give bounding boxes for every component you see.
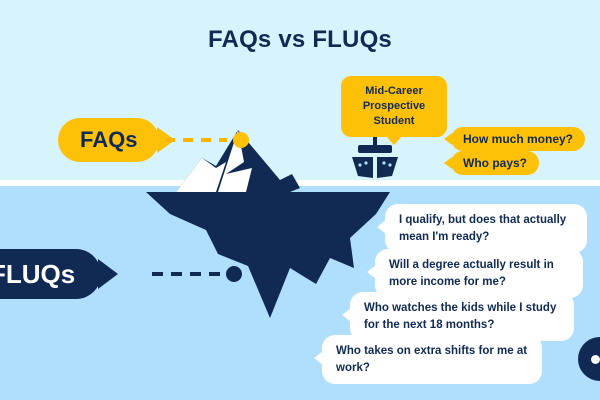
ship-deck <box>358 145 392 153</box>
fluq-bubble-tip <box>377 220 386 234</box>
fluqs-label-text: FLUQs <box>0 249 101 299</box>
faqs-connector-dot <box>233 132 249 148</box>
faq-bubble[interactable]: How much money? <box>451 127 585 151</box>
fluqs-connector-line <box>152 272 224 276</box>
faq-bubble-tip <box>444 157 452 169</box>
fluq-bubble[interactable]: Who takes on extra shifts for me at work… <box>322 335 542 384</box>
persona-callout: Mid-Career Prospective Student <box>341 76 447 137</box>
fluq-bubble-text: Who watches the kids while I study for t… <box>364 302 556 331</box>
fluq-bubble[interactable]: Will a degree actually result in more in… <box>375 249 583 298</box>
fluq-bubble[interactable]: I qualify, but does that actually mean I… <box>385 204 587 253</box>
corner-badge-glyph <box>591 355 600 364</box>
persona-line-2: Prospective <box>347 99 441 114</box>
fluq-bubble-text: Will a degree actually result in more in… <box>389 259 554 288</box>
ship-porthole <box>388 163 391 166</box>
faq-bubble[interactable]: Who pays? <box>451 151 539 175</box>
persona-line-1: Mid-Career <box>347 84 441 99</box>
fluq-bubble-text: Who takes on extra shifts for me at work… <box>336 345 527 374</box>
ship-hull-left <box>352 157 373 178</box>
faqs-label-text: FAQs <box>58 118 159 162</box>
fluq-bubble-tip <box>342 308 351 322</box>
fluq-bubble-tip <box>314 351 323 365</box>
faqs-label[interactable]: FAQs <box>58 118 175 162</box>
ship-porthole <box>382 161 385 164</box>
persona-line-3: Student <box>347 114 441 129</box>
faq-bubble-text: How much money? <box>463 132 573 146</box>
faq-bubble-text: Who pays? <box>463 156 527 170</box>
fluqs-label[interactable]: FLUQs <box>0 249 118 299</box>
persona-callout-tail <box>386 136 402 145</box>
fluq-bubble-tip <box>367 265 376 279</box>
fluqs-label-tail <box>98 259 118 289</box>
ship-porthole <box>364 161 367 164</box>
ship-porthole <box>358 163 361 166</box>
page-title: FAQs vs FLUQs <box>0 26 600 54</box>
infographic-canvas: FAQs vs FLUQs FAQs FLUQs Mid-Career Pros… <box>0 0 600 400</box>
faqs-connector-line <box>165 138 227 142</box>
faq-bubble-tip <box>444 133 452 145</box>
ship-hull-right <box>377 157 398 178</box>
fluqs-connector-dot <box>226 266 242 282</box>
fluq-bubble[interactable]: Who watches the kids while I study for t… <box>350 292 574 341</box>
fluq-bubble-text: I qualify, but does that actually mean I… <box>399 214 566 243</box>
